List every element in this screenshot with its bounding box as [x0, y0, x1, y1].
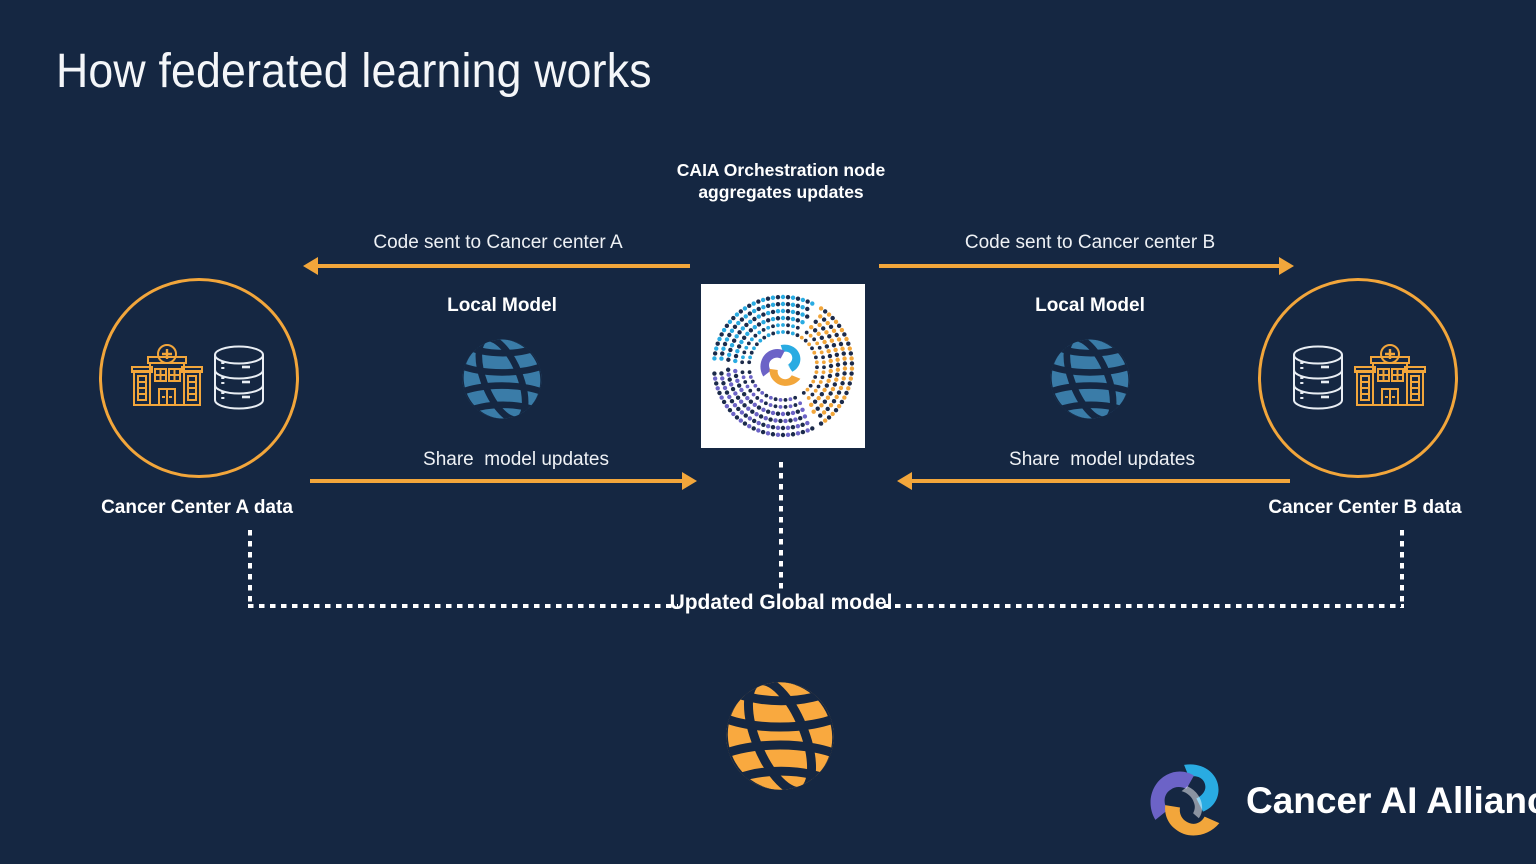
- arrow-label-share-b: Share model updates: [898, 449, 1306, 471]
- arrow-head-right-icon: [1279, 257, 1294, 275]
- dotted-connector-a-vertical: [248, 530, 252, 608]
- globe-icon: [716, 672, 844, 800]
- center-node-caption: CAIA Orchestration node aggregates updat…: [660, 160, 902, 204]
- brand-lockup: Cancer AI Alliance: [1148, 760, 1536, 842]
- local-model-label-b: Local Model: [980, 294, 1200, 318]
- arrow-head-left-icon: [897, 472, 912, 490]
- global-model-globe: [716, 672, 844, 805]
- site-icons-b: [1258, 278, 1458, 478]
- dotted-connector-b-vertical: [1400, 530, 1404, 608]
- hospital-icon: [130, 341, 204, 415]
- brand-name: Cancer AI Alliance: [1246, 780, 1536, 822]
- database-icon: [1289, 343, 1347, 413]
- arrow-line-share-a: [310, 479, 682, 483]
- arrow-line-code-a: [318, 264, 690, 268]
- caia-dot-ring-icon: [701, 284, 865, 448]
- dotted-connector-b-horizontal: [884, 604, 1404, 608]
- local-model-globe-a: [455, 332, 549, 431]
- globe-icon: [455, 332, 549, 426]
- arrow-label-code-a: Code sent to Cancer center A: [304, 232, 692, 254]
- page-title: How federated learning works: [56, 44, 652, 99]
- database-icon: [210, 343, 268, 413]
- arrow-line-code-b: [879, 264, 1279, 268]
- arrow-head-left-icon: [303, 257, 318, 275]
- global-model-label: Updated Global model: [656, 590, 906, 616]
- local-model-label-a: Local Model: [392, 294, 612, 318]
- diagram-canvas: How federated learning works CAIA Orches…: [0, 0, 1536, 864]
- caia-orchestration-logo-tile: [701, 284, 865, 448]
- dotted-connector-center-vertical: [779, 462, 783, 592]
- globe-icon: [1043, 332, 1137, 426]
- arrow-head-right-icon: [682, 472, 697, 490]
- site-label-b: Cancer Center B data: [1205, 496, 1525, 520]
- hospital-icon: [1353, 341, 1427, 415]
- local-model-globe-b: [1043, 332, 1137, 431]
- arrow-label-code-b: Code sent to Cancer center B: [890, 232, 1290, 254]
- cancer-ai-alliance-hands-logo: [1148, 760, 1230, 842]
- site-label-a: Cancer Center A data: [37, 496, 357, 520]
- arrow-label-share-a: Share model updates: [316, 449, 716, 471]
- arrow-line-share-b: [912, 479, 1290, 483]
- dotted-connector-a-horizontal: [248, 604, 678, 608]
- site-icons-a: [99, 278, 299, 478]
